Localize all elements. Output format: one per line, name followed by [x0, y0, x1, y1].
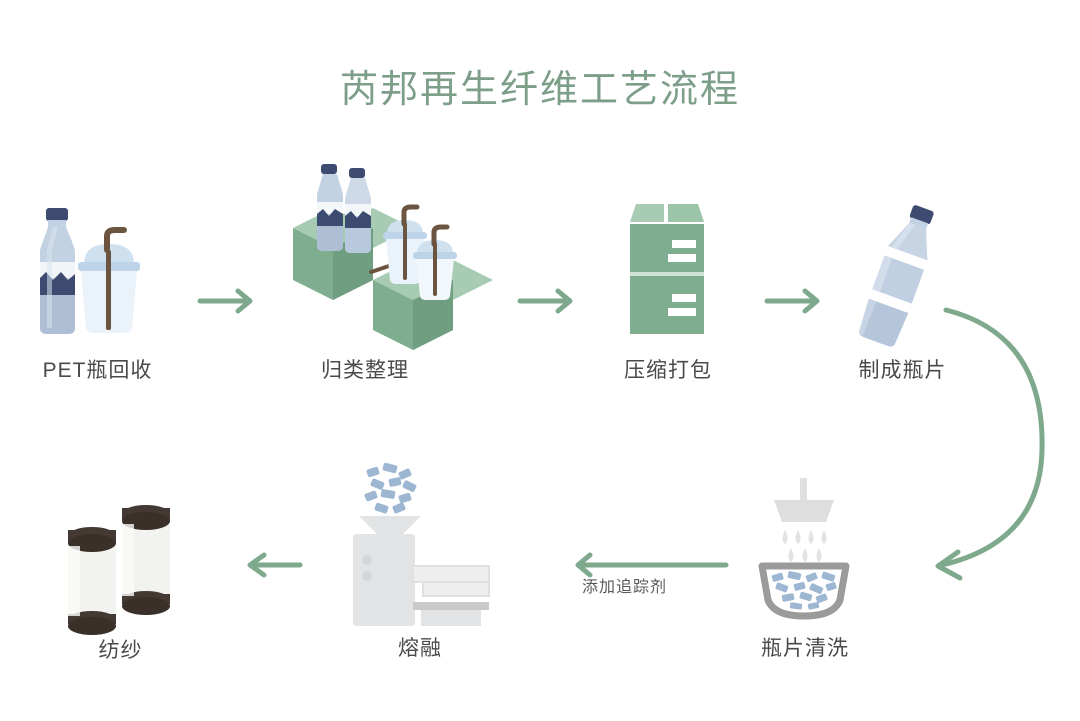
- process-flow-diagram: 芮邦再生纤维工艺流程 PET瓶回收: [0, 0, 1080, 721]
- arrow-5-note: 添加追踪剂: [582, 578, 667, 598]
- step-pet-bottle-recycling[interactable]: PET瓶回收: [20, 200, 175, 395]
- arrow-1-right: [198, 288, 260, 314]
- shower-basin-icon: [730, 478, 880, 623]
- step-label: 归类整理: [275, 358, 455, 384]
- arrow-2-right: [518, 288, 580, 314]
- arrow-3-right: [765, 288, 827, 314]
- step-flake-washing[interactable]: 瓶片清洗: [730, 478, 880, 673]
- yarn-bobbins-icon: [48, 488, 193, 628]
- step-spinning[interactable]: 纺纱: [48, 488, 193, 678]
- page-title: 芮邦再生纤维工艺流程: [0, 66, 1080, 114]
- step-sorting[interactable]: 归类整理: [275, 160, 455, 395]
- step-label: 压缩打包: [598, 358, 738, 384]
- sorting-boxes-icon: [275, 160, 475, 345]
- step-label: 瓶片清洗: [730, 636, 880, 662]
- step-compress-baling[interactable]: 压缩打包: [598, 196, 738, 396]
- arrow-5-left: [566, 552, 728, 578]
- arrow-6-left: [238, 552, 304, 578]
- step-melting[interactable]: 熔融: [325, 462, 515, 672]
- pet-bottle-and-cup-icon: [20, 200, 175, 345]
- step-label: PET瓶回收: [20, 358, 175, 384]
- arrow-4-curved-down-left: [890, 280, 1080, 600]
- step-label: 熔融: [325, 636, 515, 662]
- step-label: 纺纱: [48, 638, 193, 664]
- stacked-bales-icon: [598, 196, 738, 341]
- extruder-machine-icon: [325, 462, 515, 627]
